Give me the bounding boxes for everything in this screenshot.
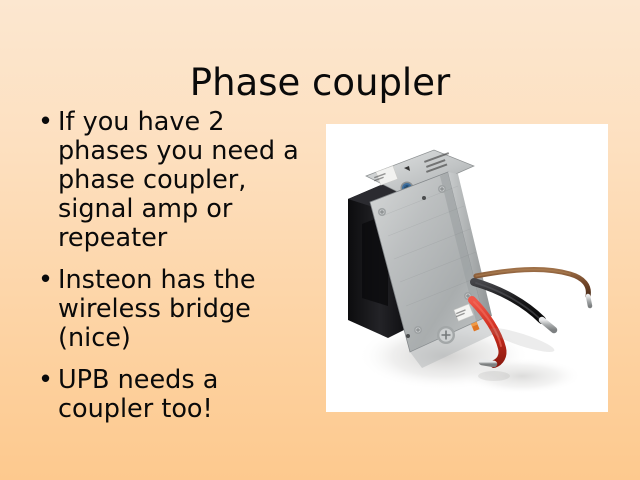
bullet-marker-icon: • [38, 366, 53, 395]
bullet-marker-icon: • [38, 108, 53, 137]
bullet-list: • If you have 2 phases you need a phase … [30, 108, 320, 424]
bullet-marker-icon: • [38, 266, 53, 295]
slide-canvas: Phase coupler • If you have 2 phases you… [0, 0, 640, 480]
list-item-label: If you have 2 phases you need a phase co… [58, 108, 320, 253]
list-item: • Insteon has the wireless bridge (nice) [30, 266, 320, 353]
list-item: • If you have 2 phases you need a phase … [30, 108, 320, 253]
page-title: Phase coupler [0, 61, 640, 105]
list-item: • UPB needs a coupler too! [30, 366, 320, 424]
list-item-label: Insteon has the wireless bridge (nice) [58, 266, 320, 353]
product-photo-image [326, 124, 608, 412]
product-photo [326, 124, 608, 412]
list-item-label: UPB needs a coupler too! [58, 366, 320, 424]
